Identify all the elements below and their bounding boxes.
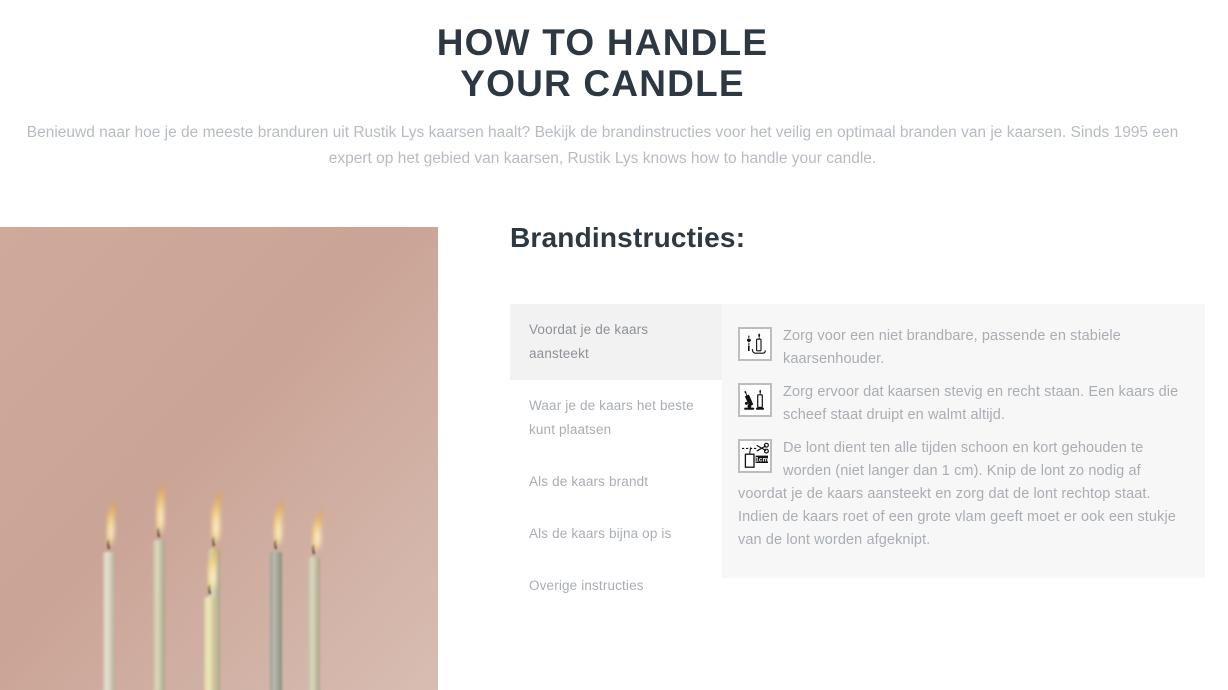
instruction-item: Zorg voor een niet brandbare, passende e… <box>738 325 1183 371</box>
instructions-column: Brandinstructies: Voordat je de kaars aa… <box>510 221 1205 612</box>
tab-als-de-kaars-bijna-op-is[interactable]: Als de kaars bijna op is <box>510 508 722 560</box>
instruction-item: Zorg ervoor dat kaarsen stevig en recht … <box>738 381 1183 427</box>
candle-upright-icon <box>738 383 772 417</box>
tab-waar-je-de-kaars-het-beste-kunt-plaatsen[interactable]: Waar je de kaars het beste kunt plaatsen <box>510 380 722 456</box>
candle-holder-stable-icon <box>738 327 772 361</box>
tab-als-de-kaars-brandt[interactable]: Als de kaars brandt <box>510 456 722 508</box>
tab-voordat-je-de-kaars-aansteekt[interactable]: Voordat je de kaars aansteekt <box>510 304 722 380</box>
wick-length-label: 1cm <box>755 457 768 464</box>
instruction-tab-list: Voordat je de kaars aansteekt Waar je de… <box>510 304 722 612</box>
candles-photo <box>0 227 438 690</box>
page-title-line-2: YOUR CANDLE <box>0 63 1205 104</box>
trim-wick-1cm-icon: 1cm <box>738 439 772 473</box>
page-root: HOW TO HANDLE YOUR CANDLE Benieuwd naar … <box>0 0 1228 690</box>
page-title-line-1: HOW TO HANDLE <box>0 22 1205 63</box>
instruction-text: Zorg voor een niet brandbare, passende e… <box>783 328 1121 367</box>
section-title: Brandinstructies: <box>510 221 1205 255</box>
tab-overige-instructies[interactable]: Overige instructies <box>510 560 722 612</box>
instructions-accordion: Voordat je de kaars aansteekt Waar je de… <box>510 304 1205 612</box>
instruction-panel: Zorg voor een niet brandbare, passende e… <box>722 304 1205 578</box>
page-title: HOW TO HANDLE YOUR CANDLE <box>0 22 1205 104</box>
instruction-item: 1cm De lont dient ten alle tijden schoon… <box>738 437 1183 552</box>
page-subtitle: Benieuwd naar hoe je de meeste branduren… <box>0 120 1205 172</box>
instruction-text: De lont dient ten alle tijden schoon en … <box>738 440 1176 548</box>
instruction-text: Zorg ervoor dat kaarsen stevig en recht … <box>783 384 1178 423</box>
